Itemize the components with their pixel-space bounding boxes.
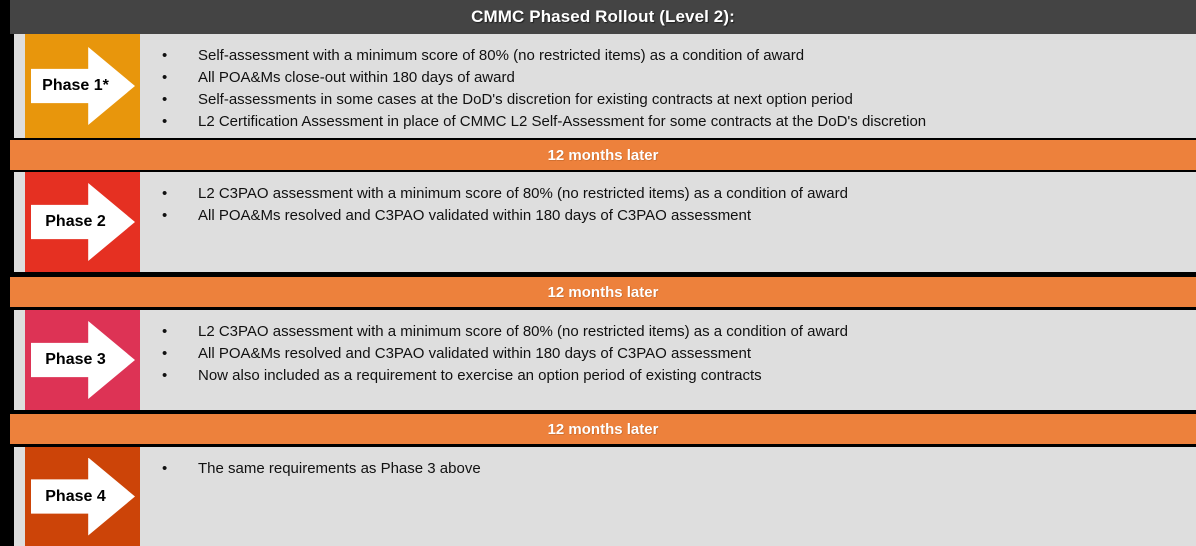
bullet-point-icon: • xyxy=(162,321,198,343)
page-title: CMMC Phased Rollout (Level 2): xyxy=(471,7,735,27)
phase-label-3: Phase 3 xyxy=(45,351,105,369)
bullet-point-icon: • xyxy=(162,67,198,89)
bullet-item: •Self-assessment with a minimum score of… xyxy=(162,45,1186,67)
separator-label-3: 12 months later xyxy=(548,421,659,438)
bullet-point-icon: • xyxy=(162,183,198,205)
cmmc-rollout-diagram: CMMC Phased Rollout (Level 2): Phase 1* … xyxy=(0,0,1196,546)
separator-bar-1: 12 months later xyxy=(10,140,1196,170)
bullet-text: All POA&Ms resolved and C3PAO validated … xyxy=(198,343,751,365)
phase-badge-1: Phase 1* xyxy=(25,34,140,138)
bullet-point-icon: • xyxy=(162,343,198,365)
phase-label-1: Phase 1* xyxy=(42,77,109,95)
phase-label-2: Phase 2 xyxy=(45,213,105,231)
phase-label-4: Phase 4 xyxy=(45,488,105,506)
separator-label-2: 12 months later xyxy=(548,284,659,301)
phase-bullets-3: •L2 C3PAO assessment with a minimum scor… xyxy=(140,310,1196,410)
phase-badge-4: Phase 4 xyxy=(25,447,140,546)
phase-row-3: Phase 3 •L2 C3PAO assessment with a mini… xyxy=(14,310,1196,410)
bullet-point-icon: • xyxy=(162,111,198,133)
bullet-point-icon: • xyxy=(162,365,198,387)
bullet-item: •L2 C3PAO assessment with a minimum scor… xyxy=(162,321,1186,343)
bullet-text: All POA&Ms close-out within 180 days of … xyxy=(198,67,515,89)
bullet-text: All POA&Ms resolved and C3PAO validated … xyxy=(198,205,751,227)
diagram-header: CMMC Phased Rollout (Level 2): xyxy=(10,0,1196,34)
bullet-item: •Self-assessments in some cases at the D… xyxy=(162,89,1186,111)
bullet-text: L2 Certification Assessment in place of … xyxy=(198,111,926,133)
bullet-item: •Now also included as a requirement to e… xyxy=(162,365,1186,387)
bullet-text: Self-assessment with a minimum score of … xyxy=(198,45,804,67)
phase-row-1: Phase 1* •Self-assessment with a minimum… xyxy=(14,34,1196,138)
bullet-item: •L2 C3PAO assessment with a minimum scor… xyxy=(162,183,1186,205)
bullet-item: •L2 Certification Assessment in place of… xyxy=(162,111,1186,133)
bullet-text: The same requirements as Phase 3 above xyxy=(198,458,481,480)
phase-row-2: Phase 2 •L2 C3PAO assessment with a mini… xyxy=(14,172,1196,272)
bullet-point-icon: • xyxy=(162,45,198,67)
bullet-text: Self-assessments in some cases at the Do… xyxy=(198,89,853,111)
bullet-text: L2 C3PAO assessment with a minimum score… xyxy=(198,321,848,343)
phase-badge-3: Phase 3 xyxy=(25,310,140,410)
bullet-item: •All POA&Ms close-out within 180 days of… xyxy=(162,67,1186,89)
bullet-item: •The same requirements as Phase 3 above xyxy=(162,458,1186,480)
separator-bar-3: 12 months later xyxy=(10,414,1196,444)
bullet-point-icon: • xyxy=(162,89,198,111)
bullet-text: Now also included as a requirement to ex… xyxy=(198,365,762,387)
bullet-point-icon: • xyxy=(162,205,198,227)
phase-bullets-1: •Self-assessment with a minimum score of… xyxy=(140,34,1196,138)
separator-bar-2: 12 months later xyxy=(10,277,1196,307)
phase-badge-2: Phase 2 xyxy=(25,172,140,272)
separator-label-1: 12 months later xyxy=(548,147,659,164)
bullet-item: •All POA&Ms resolved and C3PAO validated… xyxy=(162,343,1186,365)
phase-bullets-2: •L2 C3PAO assessment with a minimum scor… xyxy=(140,172,1196,272)
phase-bullets-4: •The same requirements as Phase 3 above xyxy=(140,447,1196,546)
bullet-point-icon: • xyxy=(162,458,198,480)
bullet-item: •All POA&Ms resolved and C3PAO validated… xyxy=(162,205,1186,227)
bullet-text: L2 C3PAO assessment with a minimum score… xyxy=(198,183,848,205)
phase-row-4: Phase 4 •The same requirements as Phase … xyxy=(14,447,1196,546)
